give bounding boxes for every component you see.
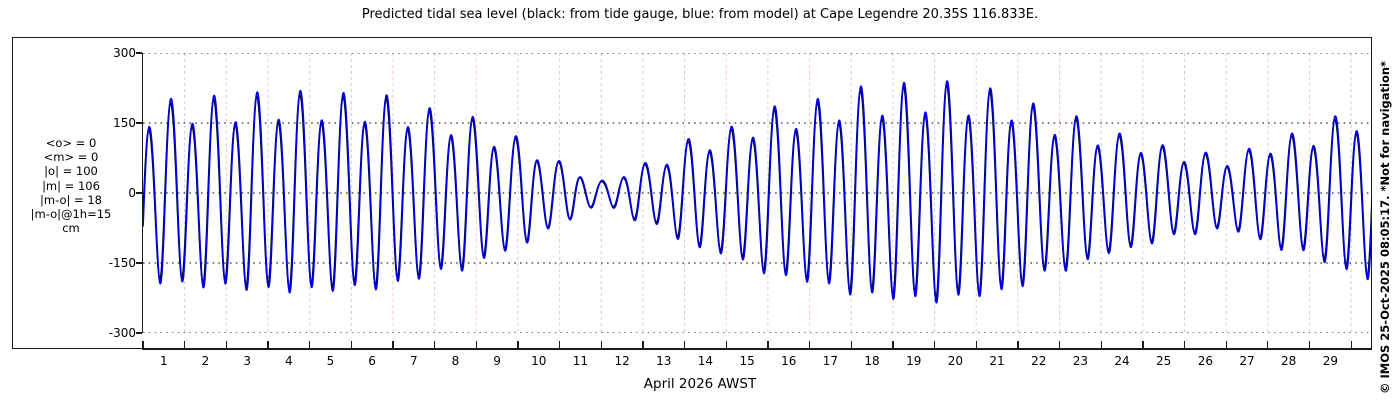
- x-axis-tick: [559, 341, 560, 350]
- x-axis-tick: [976, 341, 977, 350]
- y-axis-tick: [136, 332, 142, 333]
- x-axis-tick: [809, 341, 810, 350]
- y-axis-label-wrap: 300: [84, 47, 136, 59]
- x-axis-tick-label: 21: [982, 354, 1012, 368]
- x-axis-tick: [142, 341, 143, 350]
- x-axis-tick: [684, 341, 685, 350]
- y-axis-tick-label: 300: [84, 47, 136, 59]
- x-axis-tick: [767, 341, 768, 350]
- x-axis-tick: [1351, 341, 1352, 350]
- x-axis-tick-label: 12: [607, 354, 637, 368]
- x-axis-tick: [1142, 341, 1143, 350]
- x-axis-tick: [1059, 341, 1060, 350]
- tidal-series-plot: [143, 53, 1372, 333]
- y-axis-label-wrap: -150: [84, 257, 136, 269]
- stat-rms-diff-1h: |m-o|@1h=15: [4, 207, 138, 221]
- x-axis-tick: [1309, 341, 1310, 350]
- chart-root: Predicted tidal sea level (black: from t…: [0, 0, 1400, 400]
- x-axis-tick-label: 11: [565, 354, 595, 368]
- x-axis-tick-label: 5: [315, 354, 345, 368]
- x-axis-tick-label: 6: [357, 354, 387, 368]
- y-axis-tick: [136, 192, 142, 193]
- y-axis-tick: [136, 122, 142, 123]
- x-axis-tick-label: 10: [524, 354, 554, 368]
- x-axis-line: [143, 349, 1372, 350]
- series-group: [143, 81, 1372, 303]
- x-axis-tick: [476, 341, 477, 350]
- x-axis-tick-label: 14: [690, 354, 720, 368]
- x-axis-tick: [434, 341, 435, 350]
- x-axis-tick: [267, 341, 268, 350]
- x-axis-tick-label: 22: [1024, 354, 1054, 368]
- y-axis-tick: [136, 262, 142, 263]
- x-axis-tick: [226, 341, 227, 350]
- x-axis-tick: [309, 341, 310, 350]
- stat-mean-model: <m> = 0: [4, 150, 138, 164]
- series-line-model: [143, 81, 1372, 303]
- x-axis-tick-label: 25: [1149, 354, 1179, 368]
- y-axis-line: [142, 53, 143, 333]
- y-axis-tick-label: -150: [84, 257, 136, 269]
- x-axis-tick-label: 13: [649, 354, 679, 368]
- x-axis-tick: [934, 341, 935, 350]
- x-axis-tick: [601, 341, 602, 350]
- stat-units: cm: [4, 221, 138, 235]
- x-axis-tick-label: 24: [1107, 354, 1137, 368]
- x-axis-tick-label: 3: [232, 354, 262, 368]
- x-axis-tick-label: 1: [149, 354, 179, 368]
- y-axis-tick: [136, 52, 142, 53]
- y-axis-tick-label: 150: [84, 117, 136, 129]
- x-axis-tick-label: 7: [399, 354, 429, 368]
- x-axis-tick: [642, 341, 643, 350]
- x-axis-tick-label: 17: [815, 354, 845, 368]
- x-axis-tick-label: 4: [274, 354, 304, 368]
- x-axis-tick: [1101, 341, 1102, 350]
- stat-mean-obs: <o> = 0: [4, 136, 138, 150]
- x-axis-tick-label: 26: [1190, 354, 1220, 368]
- y-axis-tick-label: 0: [84, 187, 136, 199]
- x-axis-tick: [1267, 341, 1268, 350]
- x-axis-tick: [1184, 341, 1185, 350]
- x-axis-tick-label: 9: [482, 354, 512, 368]
- x-axis-tick: [1017, 341, 1018, 350]
- x-axis-tick-label: 28: [1274, 354, 1304, 368]
- y-axis-label-wrap: 150: [84, 117, 136, 129]
- y-axis-label-wrap: 0: [84, 187, 136, 199]
- y-axis-label-wrap: -300: [84, 327, 136, 339]
- credit-block: © IMOS 25-Oct-2025 08:05:17. *Not for na…: [1383, 0, 1400, 400]
- chart-title: Predicted tidal sea level (black: from t…: [0, 7, 1400, 22]
- x-axis-tick-label: 2: [190, 354, 220, 368]
- x-axis-tick-label: 23: [1065, 354, 1095, 368]
- x-axis-tick-label: 29: [1315, 354, 1345, 368]
- statistics-panel: <o> = 0 <m> = 0 |o| = 100 |m| = 106 |m-o…: [4, 136, 138, 235]
- x-axis-tick: [1226, 341, 1227, 350]
- x-axis-tick-label: 16: [774, 354, 804, 368]
- x-axis-tick: [392, 341, 393, 350]
- x-axis-tick: [726, 341, 727, 350]
- x-axis-tick: [351, 341, 352, 350]
- plot-area: [143, 53, 1372, 333]
- x-axis-tick-label: 20: [940, 354, 970, 368]
- stat-rms-obs: |o| = 100: [4, 164, 138, 178]
- x-axis-tick-label: 27: [1232, 354, 1262, 368]
- x-axis-tick-label: 8: [440, 354, 470, 368]
- x-axis-tick: [184, 341, 185, 350]
- x-axis-tick-label: 15: [732, 354, 762, 368]
- x-axis-tick-label: 18: [857, 354, 887, 368]
- x-axis-tick: [517, 341, 518, 350]
- x-axis-tick: [892, 341, 893, 350]
- credit-text: © IMOS 25-Oct-2025 08:05:17. *Not for na…: [1378, 61, 1392, 394]
- x-axis-title: April 2026 AWST: [0, 376, 1400, 392]
- x-axis-tick: [851, 341, 852, 350]
- y-axis-tick-label: -300: [84, 327, 136, 339]
- x-axis-tick-label: 19: [899, 354, 929, 368]
